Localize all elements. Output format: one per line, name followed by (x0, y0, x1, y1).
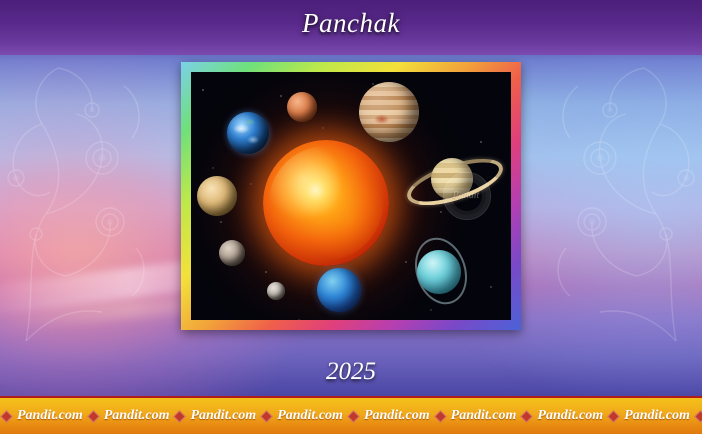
ticker-item: Pandit.com (358, 408, 436, 424)
ticker-item: Pandit.com (531, 408, 609, 424)
rainbow-photo-frame: Pandit (181, 62, 521, 330)
earth-icon (227, 112, 269, 154)
uranus-body (417, 250, 461, 294)
jupiter-icon (359, 82, 419, 142)
ticker-item: Pandit.com (11, 408, 89, 424)
neptune-icon (317, 268, 361, 312)
ticker-item: Pandit.com (618, 408, 696, 424)
ticker-item: Pandit.com (184, 408, 262, 424)
mercury-icon (219, 240, 245, 266)
ticker-inner: Pandit.com Pandit.com Pandit.com Pandit.… (0, 408, 702, 424)
solar-system-image: Pandit (191, 72, 511, 320)
page-title: Panchak (0, 8, 702, 39)
panchak-poster: Panchak Pandit (0, 0, 702, 434)
ticker-item: Pandit.com (98, 408, 176, 424)
watermark-text: Pandit (453, 190, 480, 201)
sun-icon (263, 140, 389, 266)
ticker-item: Pandit.com (271, 408, 349, 424)
pluto-icon (267, 282, 285, 300)
venus-icon (197, 176, 237, 216)
year-label: 2025 (0, 358, 702, 386)
ticker-item: Pandit.com (445, 408, 523, 424)
watermark-ticker: Pandit.com Pandit.com Pandit.com Pandit.… (0, 396, 702, 434)
image-watermark: Pandit (429, 168, 503, 222)
uranus-icon (403, 238, 475, 300)
mars-icon (287, 92, 317, 122)
